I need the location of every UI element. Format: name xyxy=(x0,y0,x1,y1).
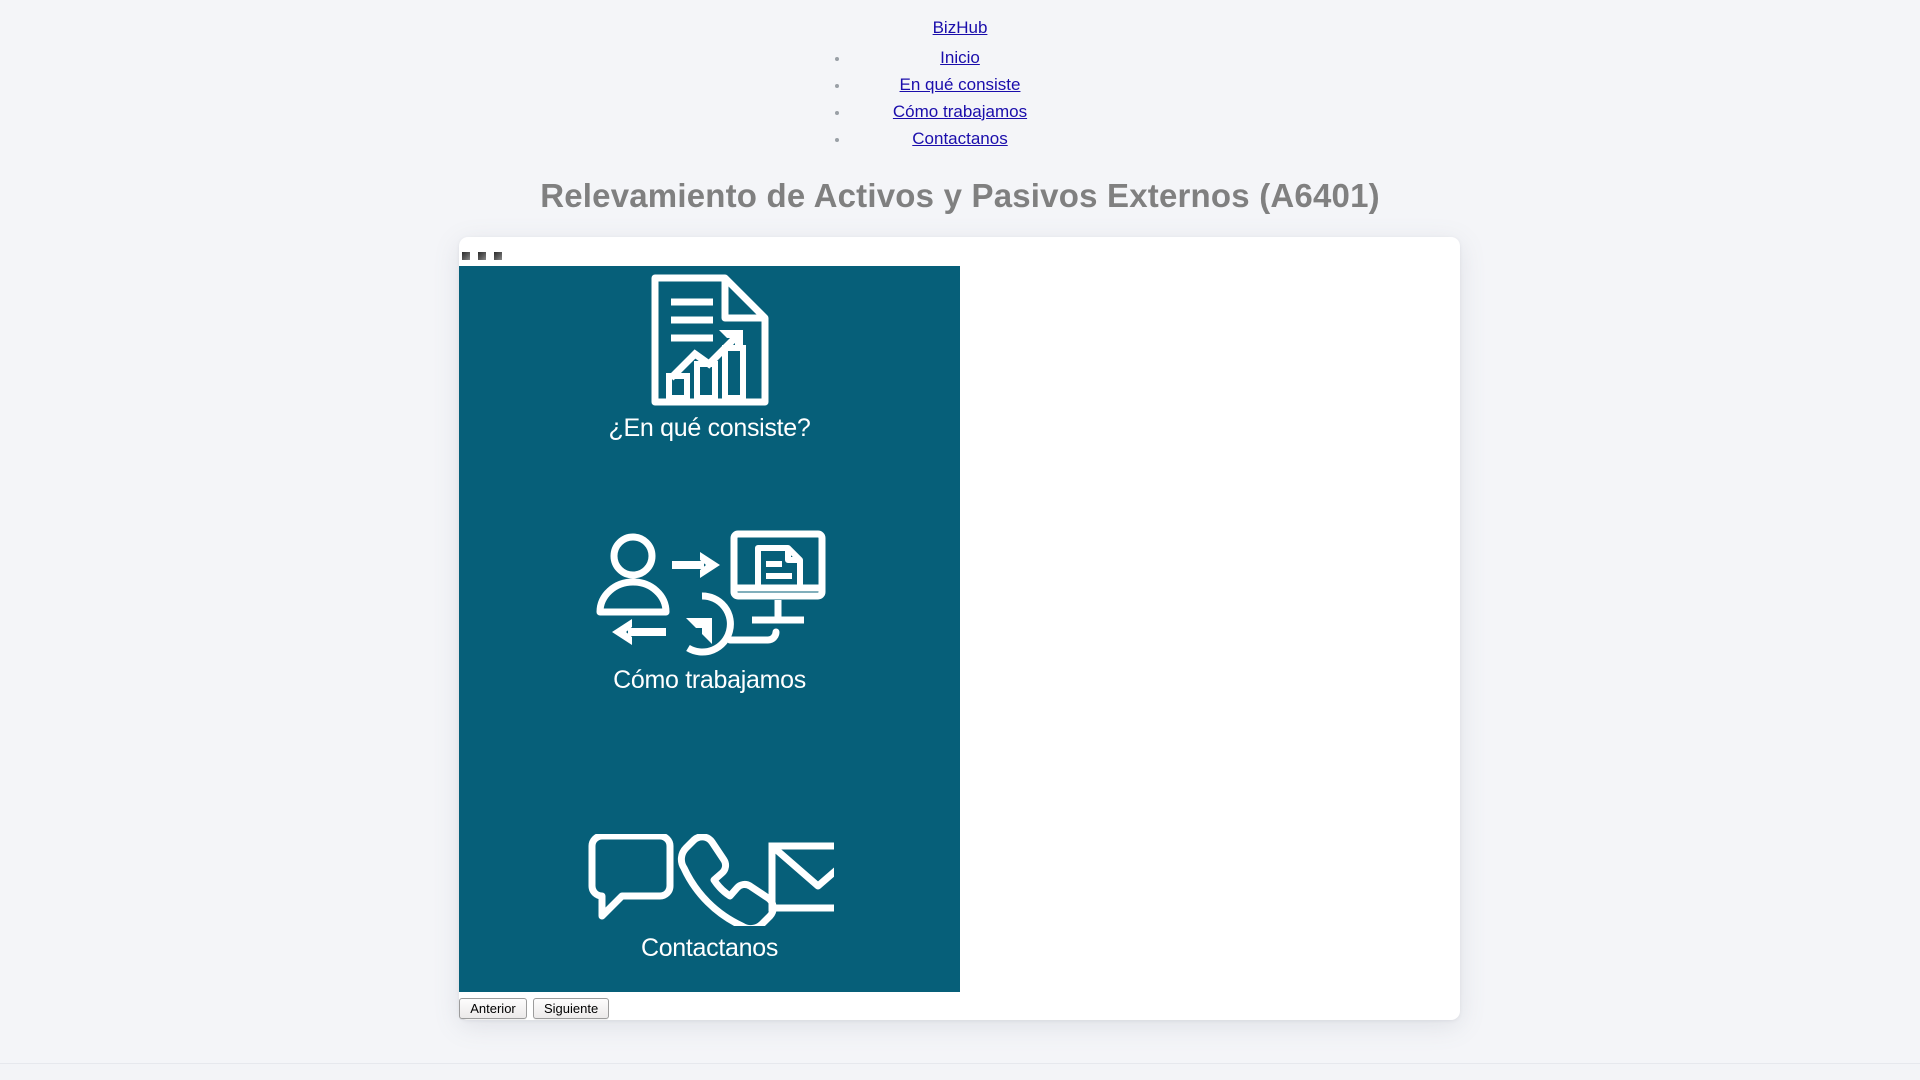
nav-item-como-trabajamos[interactable]: Cómo trabajamos xyxy=(850,99,1070,126)
slide-caption-en-que-consiste: ¿En qué consiste? xyxy=(459,414,960,443)
nav-link-como-trabajamos[interactable]: Cómo trabajamos xyxy=(893,102,1027,121)
nav-link-en-que-consiste[interactable]: En qué consiste xyxy=(900,75,1021,94)
carousel-dot-2[interactable] xyxy=(478,252,486,260)
slide-section-en-que-consiste: ¿En qué consiste? xyxy=(459,266,960,508)
site-navigation: BizHub Inicio En qué consiste Cómo traba… xyxy=(0,0,1920,153)
carousel-dot-3[interactable] xyxy=(494,252,502,260)
nav-link-contactanos[interactable]: Contactanos xyxy=(912,129,1007,148)
nav-list: Inicio En qué consiste Cómo trabajamos C… xyxy=(0,45,1920,153)
document-chart-icon xyxy=(459,268,960,408)
nav-item-inicio[interactable]: Inicio xyxy=(850,45,1070,72)
brand-row: BizHub xyxy=(0,0,1920,37)
page-root: BizHub Inicio En qué consiste Cómo traba… xyxy=(0,0,1920,1080)
carousel-dot-1[interactable] xyxy=(462,252,470,260)
chat-phone-mail-icon xyxy=(459,786,960,926)
slide-caption-contactanos: Contactanos xyxy=(459,934,960,963)
slide-image-panel: ¿En qué consiste? xyxy=(459,266,960,992)
slide-section-contactanos: Contactanos xyxy=(459,750,960,992)
nav-item-contactanos[interactable]: Contactanos xyxy=(850,126,1070,153)
nav-item-en-que-consiste[interactable]: En qué consiste xyxy=(850,72,1070,99)
nav-link-inicio[interactable]: Inicio xyxy=(940,48,980,67)
next-button[interactable]: Siguiente xyxy=(533,998,609,1019)
carousel-card: ¿En qué consiste? xyxy=(459,237,1460,1020)
person-monitor-process-icon xyxy=(459,522,960,662)
previous-button[interactable]: Anterior xyxy=(459,998,527,1019)
slide-caption-como-trabajamos: Cómo trabajamos xyxy=(459,666,960,695)
carousel-indicators xyxy=(462,252,502,260)
slide-section-como-trabajamos: Cómo trabajamos xyxy=(459,508,960,750)
carousel-controls: Anterior Siguiente xyxy=(459,998,609,1019)
page-title: Relevamiento de Activos y Pasivos Extern… xyxy=(0,177,1920,215)
footer-band xyxy=(0,1063,1920,1080)
brand-link-bizhub[interactable]: BizHub xyxy=(933,18,988,37)
